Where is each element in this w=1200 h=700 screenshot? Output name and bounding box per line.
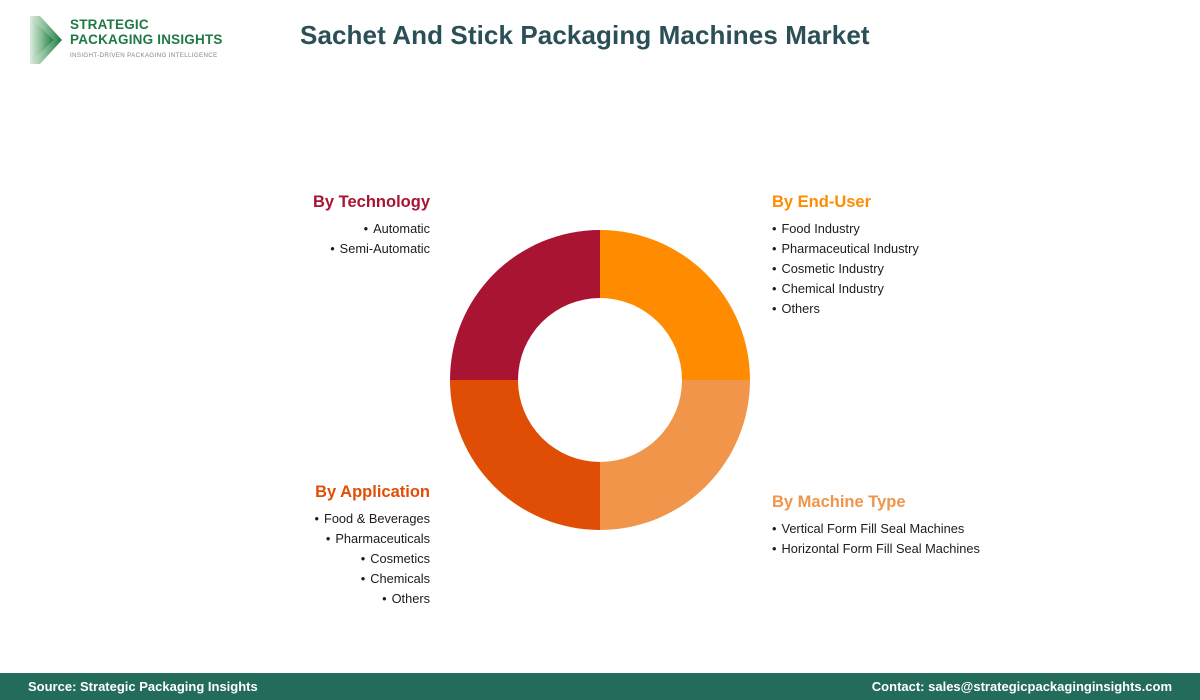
footer-bar: Source: Strategic Packaging Insights Con… — [0, 673, 1200, 700]
list-item: Food & Beverages — [200, 509, 430, 529]
donut-chart — [450, 230, 750, 530]
logo-line-2: PACKAGING INSIGHTS — [70, 33, 223, 48]
chevron-logo-icon — [24, 14, 64, 66]
list-item: Pharmaceuticals — [200, 529, 430, 549]
list-item: Cosmetic Industry — [772, 259, 1032, 279]
list-item: Others — [200, 589, 430, 609]
list-item: Semi-Automatic — [230, 239, 430, 259]
list-item: Cosmetics — [200, 549, 430, 569]
segment-list-application: Food & Beverages Pharmaceuticals Cosmeti… — [200, 509, 430, 609]
logo-tagline: INSIGHT-DRIVEN PACKAGING INTELLIGENCE — [70, 52, 223, 59]
segment-heading-end-user: By End-User — [772, 193, 1032, 212]
segment-group-machine-type: By Machine Type Vertical Form Fill Seal … — [772, 493, 1072, 559]
logo-text-block: STRATEGIC PACKAGING INSIGHTS INSIGHT-DRI… — [70, 14, 223, 59]
list-item: Chemicals — [200, 569, 430, 589]
footer-source: Source: Strategic Packaging Insights — [28, 679, 258, 694]
segment-list-end-user: Food Industry Pharmaceutical Industry Co… — [772, 219, 1032, 319]
list-item: Food Industry — [772, 219, 1032, 239]
list-item: Horizontal Form Fill Seal Machines — [772, 539, 1072, 559]
logo-line-1: STRATEGIC — [70, 18, 223, 33]
segment-heading-machine-type: By Machine Type — [772, 493, 1072, 512]
list-item: Chemical Industry — [772, 279, 1032, 299]
donut-segment-end-user[interactable] — [600, 230, 750, 380]
list-item: Automatic — [230, 219, 430, 239]
segment-heading-application: By Application — [200, 483, 430, 502]
donut-segment-machine-type[interactable] — [600, 380, 750, 530]
company-logo: STRATEGIC PACKAGING INSIGHTS INSIGHT-DRI… — [24, 14, 284, 72]
segment-group-application: By Application Food & Beverages Pharmace… — [200, 483, 430, 609]
page-title: Sachet And Stick Packaging Machines Mark… — [300, 20, 870, 51]
segment-heading-technology: By Technology — [230, 193, 430, 212]
segment-list-machine-type: Vertical Form Fill Seal Machines Horizon… — [772, 519, 1072, 559]
footer-contact[interactable]: Contact: sales@strategicpackaginginsight… — [872, 679, 1172, 694]
segment-list-technology: Automatic Semi-Automatic — [230, 219, 430, 259]
segment-group-end-user: By End-User Food Industry Pharmaceutical… — [772, 193, 1032, 319]
list-item: Vertical Form Fill Seal Machines — [772, 519, 1072, 539]
list-item: Pharmaceutical Industry — [772, 239, 1032, 259]
donut-segment-application[interactable] — [450, 380, 600, 530]
donut-segment-technology[interactable] — [450, 230, 600, 380]
segment-group-technology: By Technology Automatic Semi-Automatic — [230, 193, 430, 259]
list-item: Others — [772, 299, 1032, 319]
